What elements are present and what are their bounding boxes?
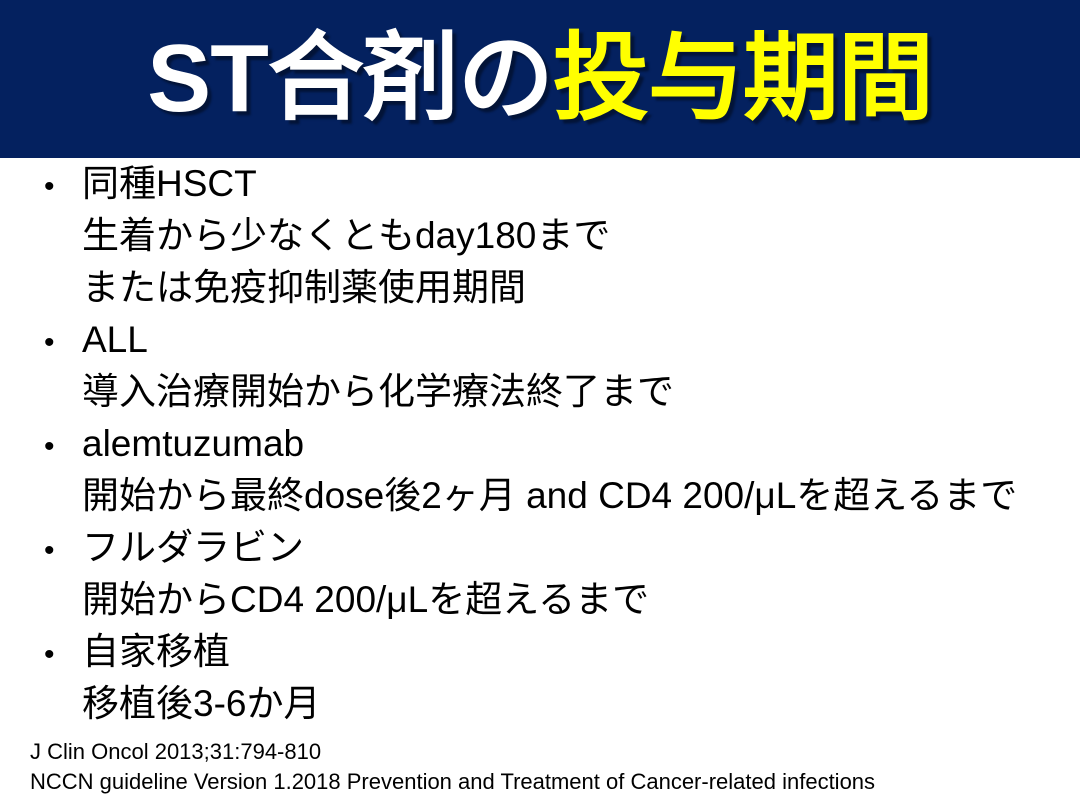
citation-line: J Clin Oncol 2013;31:794-810 <box>30 737 1070 767</box>
title-text-yellow: 投与期間 <box>553 31 933 127</box>
bullet-dot-icon: • <box>44 525 82 577</box>
citation-line: NCCN guideline Version 1.2018 Prevention… <box>30 767 1070 797</box>
bullet-label: 自家移植 <box>82 626 230 678</box>
bullet-detail: 開始から最終dose後2ヶ月 and CD4 200/μLを超えるまで <box>0 470 1080 522</box>
bullet-group-1: • 同種HSCT 生着から少なくともday180まで または免疫抑制薬使用期間 <box>0 158 1080 314</box>
bullet-label: 同種HSCT <box>82 158 257 210</box>
slide-title: ST合剤の投与期間 <box>0 0 1080 158</box>
bullet-detail: 開始からCD4 200/μLを超えるまで <box>0 574 1080 626</box>
bullet-group-4: • フルダラビン 開始からCD4 200/μLを超えるまで <box>0 522 1080 626</box>
bullet-item-fludarabine: • フルダラビン <box>0 522 1080 574</box>
bullet-dot-icon: • <box>44 317 82 369</box>
bullet-item-alemtuzumab: • alemtuzumab <box>0 418 1080 470</box>
bullet-item-allogeneic-hsct: • 同種HSCT <box>0 158 1080 210</box>
title-banner: ST合剤の投与期間 <box>0 0 1080 158</box>
title-text-white: ST合剤の <box>147 31 553 127</box>
bullet-label: フルダラビン <box>82 522 304 574</box>
bullet-detail: または免疫抑制薬使用期間 <box>0 262 1080 314</box>
slide-root: ST合剤の投与期間 • 同種HSCT 生着から少なくともday180まで または… <box>0 0 1080 810</box>
bullet-detail: 導入治療開始から化学療法終了まで <box>0 366 1080 418</box>
citation-footer: J Clin Oncol 2013;31:794-810 NCCN guidel… <box>30 737 1070 797</box>
bullet-dot-icon: • <box>44 421 82 473</box>
bullet-list: • 同種HSCT 生着から少なくともday180まで または免疫抑制薬使用期間 … <box>0 158 1080 738</box>
bullet-dot-icon: • <box>44 629 82 681</box>
bullet-dot-icon: • <box>44 161 82 213</box>
bullet-item-all: • ALL <box>0 314 1080 366</box>
bullet-group-5: • 自家移植 移植後3-6か月 <box>0 626 1080 730</box>
bullet-detail: 生着から少なくともday180まで <box>0 210 1080 262</box>
bullet-group-2: • ALL 導入治療開始から化学療法終了まで <box>0 314 1080 418</box>
bullet-label: ALL <box>82 314 148 366</box>
bullet-label: alemtuzumab <box>82 418 304 470</box>
bullet-item-autologous-transplant: • 自家移植 <box>0 626 1080 678</box>
bullet-group-3: • alemtuzumab 開始から最終dose後2ヶ月 and CD4 200… <box>0 418 1080 522</box>
bullet-detail: 移植後3-6か月 <box>0 678 1080 730</box>
